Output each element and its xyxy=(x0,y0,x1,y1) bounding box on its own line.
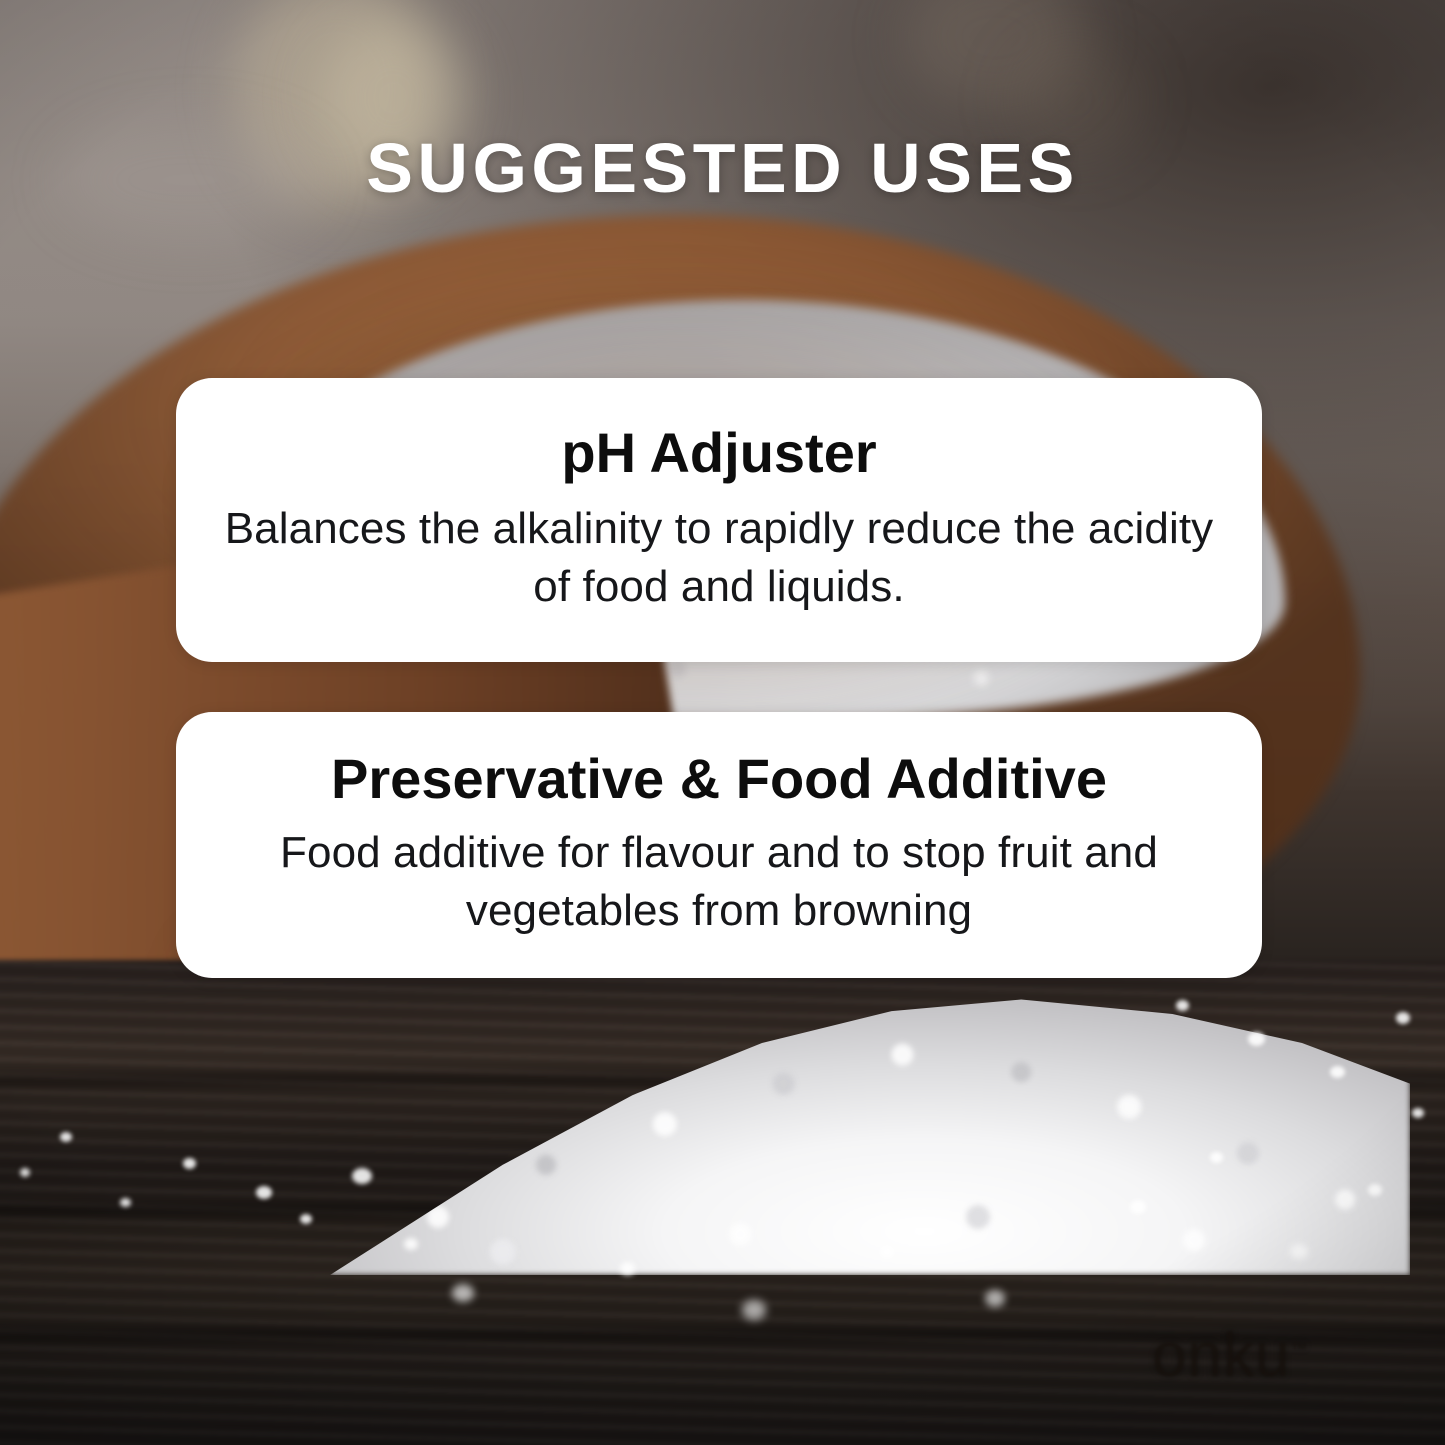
page-title: SUGGESTED USES xyxy=(0,133,1445,203)
brand-watermark: onku™ xyxy=(1152,1325,1307,1387)
use-card-ph-adjuster: pH Adjuster Balances the alkalinity to r… xyxy=(176,378,1262,662)
use-card-title: Preservative & Food Additive xyxy=(210,749,1228,809)
trademark-symbol: ™ xyxy=(1290,1339,1307,1358)
use-card-preservative-food-additive: Preservative & Food Additive Food additi… xyxy=(176,712,1262,978)
product-infographic: SUGGESTED USES pH Adjuster Balances the … xyxy=(0,0,1445,1445)
use-card-description: Balances the alkalinity to rapidly reduc… xyxy=(210,500,1228,617)
brand-watermark-text: onku xyxy=(1152,1321,1290,1390)
use-card-title: pH Adjuster xyxy=(210,423,1228,483)
use-card-description: Food additive for flavour and to stop fr… xyxy=(210,824,1228,941)
